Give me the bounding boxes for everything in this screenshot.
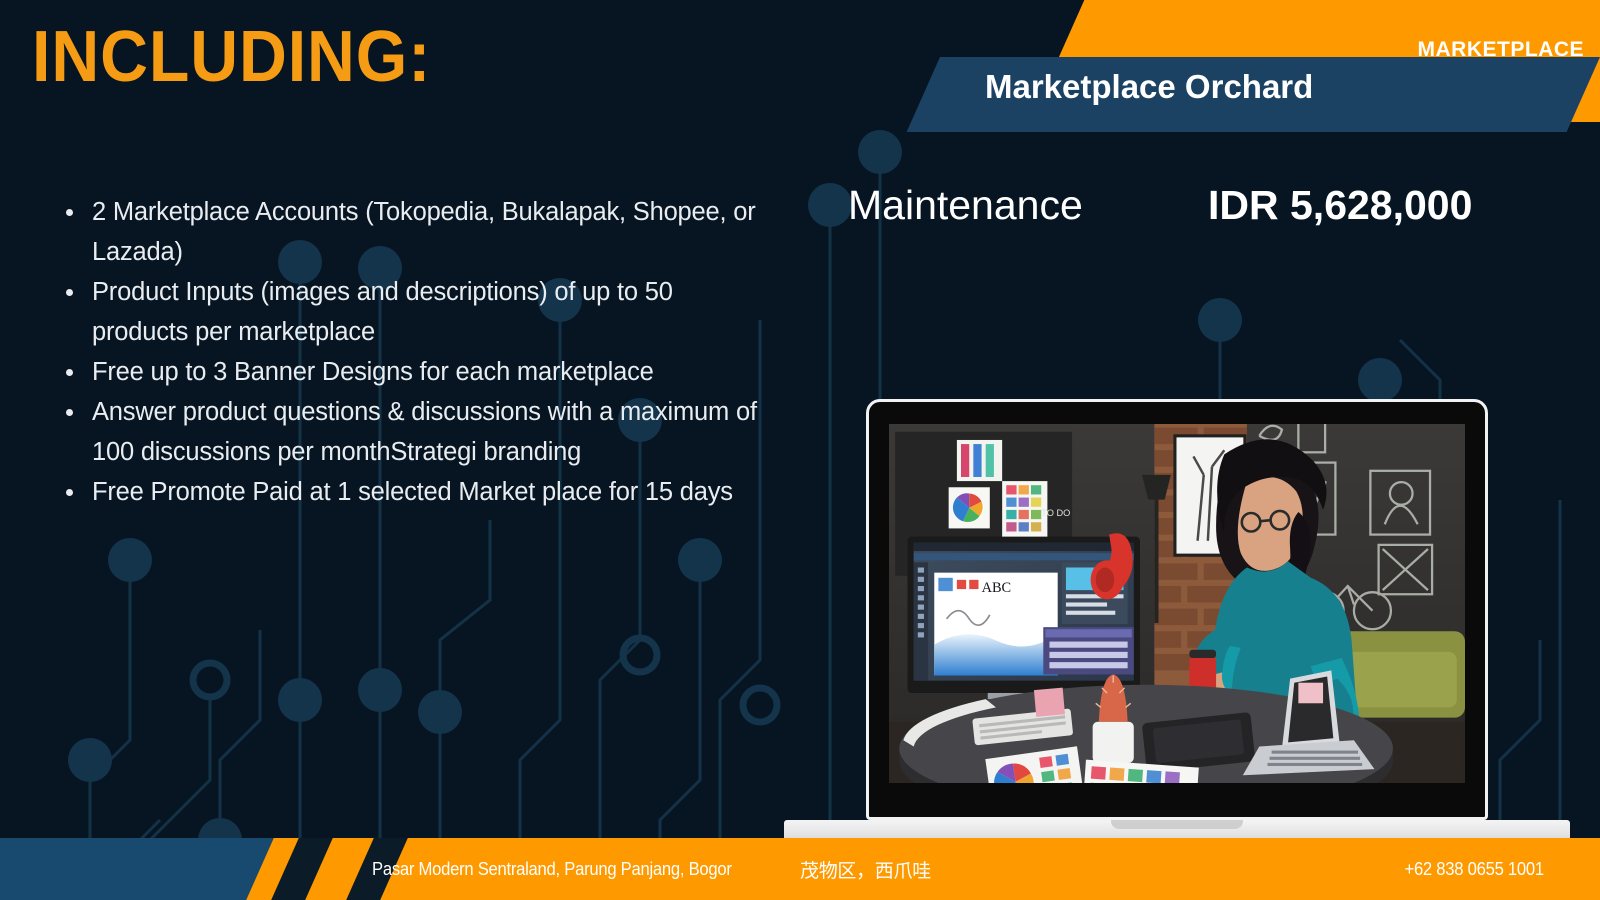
feature-list: 2 Marketplace Accounts (Tokopedia, Bukal… xyxy=(58,192,758,512)
page-title: Marketplace Orchard xyxy=(985,68,1545,106)
workspace-photo: 7 xyxy=(889,424,1465,783)
laptop-screen: 7 xyxy=(866,399,1488,820)
price-value: IDR 5,628,000 xyxy=(1208,182,1472,229)
list-item: Product Inputs (images and descriptions)… xyxy=(58,272,758,352)
svg-text:ABC: ABC xyxy=(982,580,1012,596)
laptop-mockup: 7 xyxy=(866,399,1488,820)
pricing-row: Maintenance IDR 5,628,000 xyxy=(848,182,1548,229)
slide-root: MARKETPLACE Marketplace Orchard INCLUDIN… xyxy=(0,0,1600,900)
laptop-notch xyxy=(1111,820,1243,829)
footer-phone: +62 838 0655 1001 xyxy=(1405,858,1544,880)
footer-address-chinese: 茂物区，西爪哇 xyxy=(800,856,931,883)
footer-bar: Pasar Modern Sentraland, Parung Panjang,… xyxy=(0,838,1600,900)
footer-address: Pasar Modern Sentraland, Parung Panjang,… xyxy=(372,858,732,880)
footer-text-group: Pasar Modern Sentraland, Parung Panjang,… xyxy=(0,838,1600,900)
including-heading: INCLUDING: xyxy=(32,20,431,96)
list-item: Answer product questions & discussions w… xyxy=(58,392,758,472)
svg-text:TO DO: TO DO xyxy=(1041,508,1070,518)
list-item: 2 Marketplace Accounts (Tokopedia, Bukal… xyxy=(58,192,758,272)
list-item: Free Promote Paid at 1 selected Market p… xyxy=(58,472,758,512)
price-label: Maintenance xyxy=(848,182,1208,229)
list-item: Free up to 3 Banner Designs for each mar… xyxy=(58,352,758,392)
